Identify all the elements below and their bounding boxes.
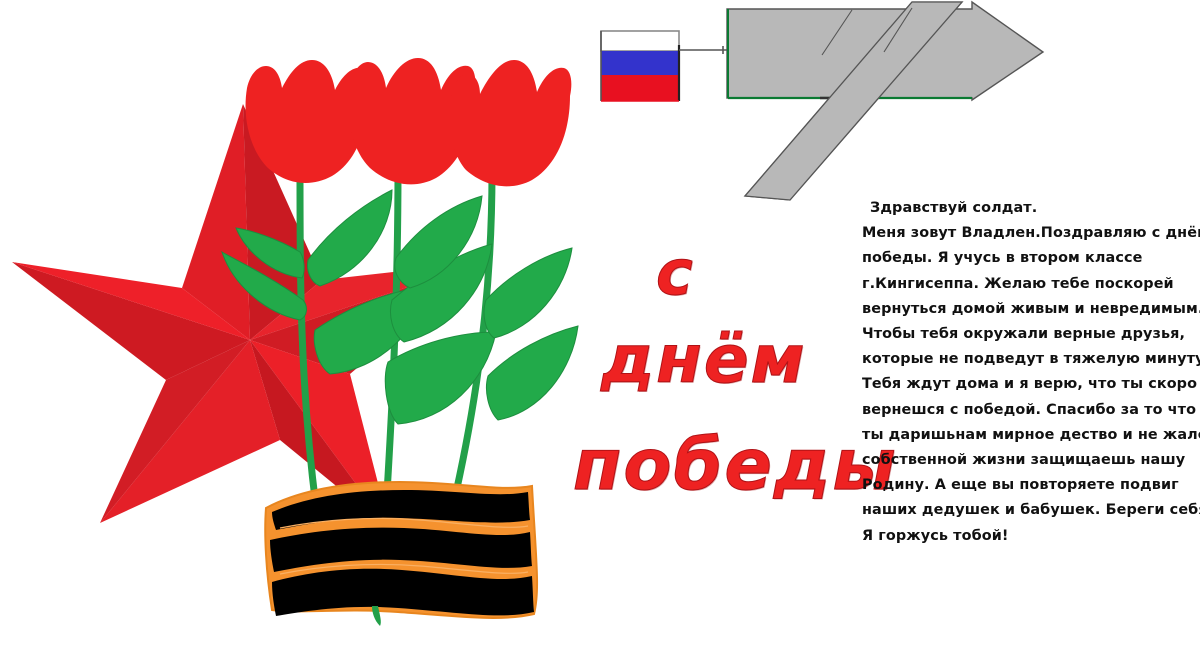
letter-line: победы. Я учусь в втором классе (862, 246, 1182, 271)
greeting-line-3: победы (573, 430, 898, 500)
letter-line: Здравствуй солдат. (862, 196, 1182, 221)
gray-arrow-shape (727, 2, 1043, 200)
letter-line: собственной жизни защищаешь нашу (862, 448, 1182, 473)
tulip-blooms (246, 58, 572, 186)
letter-line: Родину. А еще вы повторяете подвиг (862, 473, 1182, 498)
letter-text-block: Здравствуй солдат. Меня зовут Владлен.По… (862, 196, 1182, 549)
letter-line: вернешся с победой. Спасибо за то что (862, 398, 1182, 423)
letter-line: Меня зовут Владлен.Поздравляю с днём (862, 221, 1182, 246)
letter-line: вернуться домой живым и невредимым. (862, 297, 1182, 322)
letter-line: наших дедушек и бабушек. Береги себя. (862, 498, 1182, 523)
letter-line: г.Кингисеппа. Желаю тебе поскорей (862, 272, 1182, 297)
letter-line: Чтобы тебя окружали верные друзья, (862, 322, 1182, 347)
greeting-line-2: днём (601, 327, 807, 393)
letter-line: ты даришьнам мирное дество и не жалея (862, 423, 1182, 448)
letter-line: которые не подведут в тяжелую минуту. (862, 347, 1182, 372)
russian-tricolor-flag (601, 31, 679, 101)
greeting-line-1: с (656, 242, 695, 304)
letter-line: Тебя ждут дома и я верю, что ты скоро (862, 372, 1182, 397)
saint-george-ribbon (265, 482, 537, 626)
greeting-card-canvas: с днём победы Здравствуй солдат. Меня зо… (0, 0, 1200, 647)
letter-line: Я горжусь тобой! (862, 524, 1182, 549)
